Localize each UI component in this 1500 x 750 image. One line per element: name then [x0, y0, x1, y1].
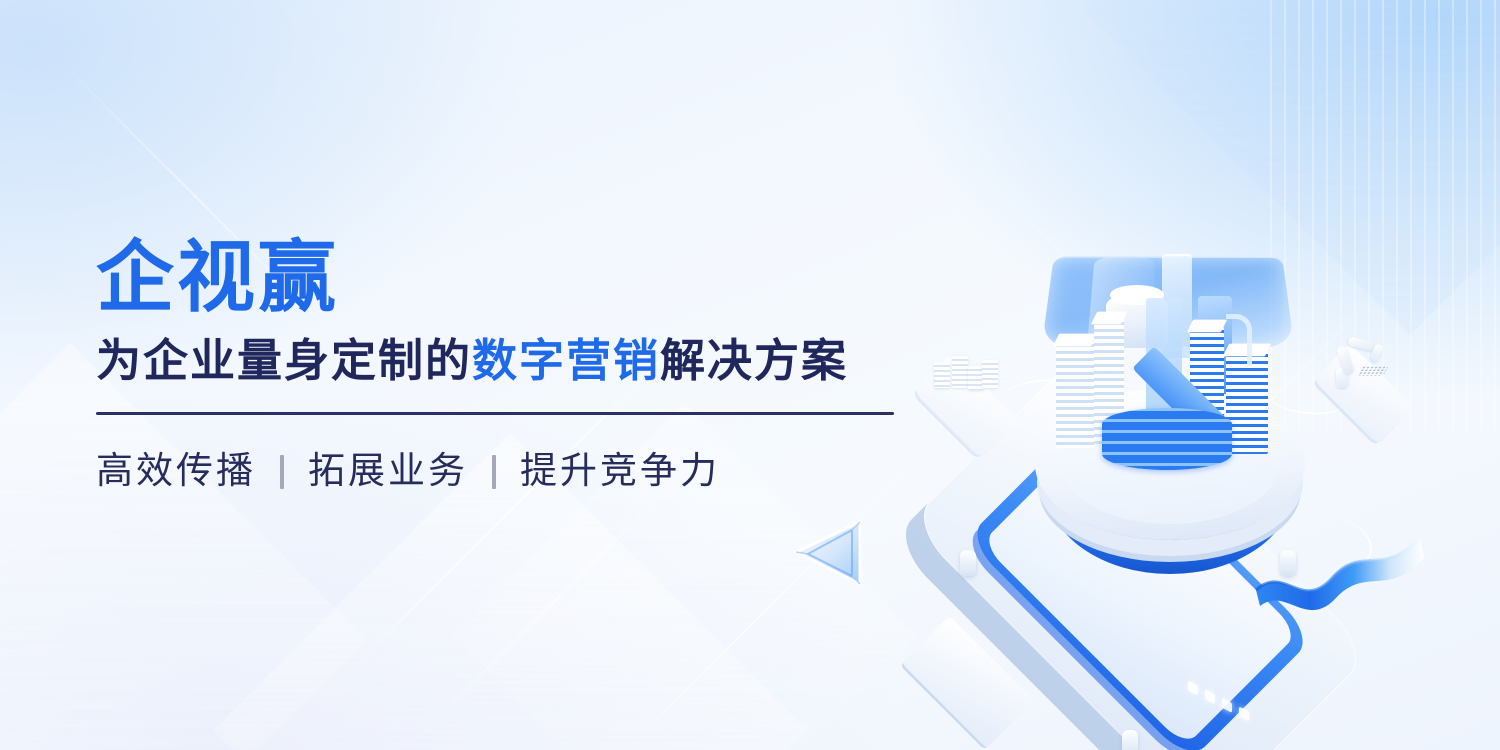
- wave-ribbon-icon: [1250, 520, 1430, 630]
- tagline: 高效传播 拓展业务 提升竞争力: [96, 449, 916, 493]
- mini-building-1: [934, 362, 950, 388]
- banner-text-block: 企视赢 为企业量身定制的数字营销解决方案 高效传播 拓展业务 提升竞争力: [96, 236, 916, 494]
- tagline-separator-1: [280, 455, 284, 489]
- tagline-separator-2: [492, 455, 496, 489]
- corner-peg-bottom: [1122, 730, 1138, 750]
- glass-prism-icon: [790, 516, 870, 590]
- corner-peg-left: [960, 550, 976, 576]
- arm-grid-panel: [1357, 366, 1389, 376]
- satellite-left-buildings: [932, 352, 998, 396]
- headline: 为企业量身定制的数字营销解决方案: [96, 335, 916, 387]
- tagline-item-2: 拓展业务: [308, 449, 468, 493]
- divider-rule: [96, 412, 894, 415]
- headline-accent: 数字营销: [472, 335, 660, 386]
- tagline-item-3: 提升竞争力: [520, 449, 720, 493]
- marketing-banner: 企视赢 为企业量身定制的数字营销解决方案 高效传播 拓展业务 提升竞争力: [0, 0, 1500, 750]
- hero-illustration: [900, 230, 1470, 670]
- mini-building-2: [952, 356, 968, 388]
- headline-suffix: 解决方案: [660, 335, 848, 386]
- pipe-icon: [1226, 314, 1252, 366]
- tagline-item-1: 高效传播: [96, 449, 256, 493]
- robotic-arm-icon: [1330, 338, 1394, 390]
- building-1: [1056, 340, 1094, 448]
- mini-building-4: [982, 360, 998, 388]
- light-streak-3: [619, 451, 924, 750]
- disc-stack-structure: [1102, 408, 1232, 470]
- city-cluster: [1050, 288, 1300, 488]
- brand-title: 企视赢: [96, 236, 916, 319]
- headline-prefix: 为企业量身定制的: [96, 335, 472, 386]
